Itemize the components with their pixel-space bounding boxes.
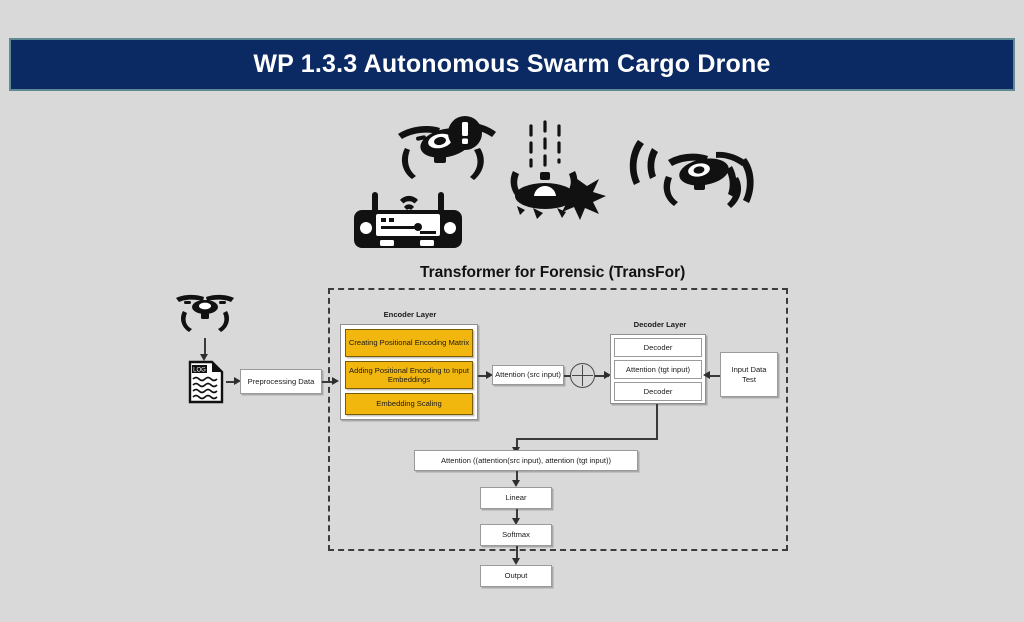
softmax-box[interactable]: Softmax	[480, 524, 552, 546]
input-data-test-box[interactable]: Input Data Test	[720, 352, 778, 397]
attention-src-input-box[interactable]: Attention (src input)	[492, 365, 564, 385]
input-data-test-label-line1: Input Data	[731, 365, 766, 374]
encoder-layer-label: Encoder Layer	[345, 310, 475, 319]
connector-decoder-to-left	[516, 438, 658, 440]
preprocessing-data-label: Preprocessing Data	[248, 377, 315, 386]
combined-attention-label: Attention ((attention(src input), attent…	[441, 456, 611, 465]
encoder-block-embedding-scaling[interactable]: Embedding Scaling	[345, 393, 473, 415]
decoder-block-attention-tgt-input[interactable]: Attention (tgt input)	[614, 360, 702, 379]
arrowhead-input-test-to-decoder	[703, 371, 710, 379]
encoder-block-label: Adding Positional Encoding to Input Embe…	[348, 366, 470, 385]
decoder-block-label: Decoder	[644, 387, 673, 396]
encoder-block-positional-encoding-matrix[interactable]: Creating Positional Encoding Matrix	[345, 329, 473, 357]
input-data-test-label-line2: Test	[742, 375, 756, 384]
transformer-architecture-diagram: Transformer for Forensic (TransFor)	[0, 0, 1024, 622]
encoder-block-adding-positional-encoding[interactable]: Adding Positional Encoding to Input Embe…	[345, 361, 473, 389]
decoder-block-decoder-bottom[interactable]: Decoder	[614, 382, 702, 401]
decoder-block-label: Decoder	[644, 343, 673, 352]
diagram-title: Transformer for Forensic (TransFor)	[420, 264, 685, 282]
softmax-label: Softmax	[502, 530, 530, 539]
arrowhead-preprocessing-to-encoder	[332, 377, 339, 385]
decoder-block-label: Attention (tgt input)	[626, 365, 690, 374]
linear-label: Linear	[505, 493, 526, 502]
linear-box[interactable]: Linear	[480, 487, 552, 509]
output-box[interactable]: Output	[480, 565, 552, 587]
arrowhead-attention-to-linear	[512, 480, 520, 487]
decoder-block-decoder-top[interactable]: Decoder	[614, 338, 702, 357]
input-drone-icon	[174, 292, 236, 334]
attention-src-input-label: Attention (src input)	[495, 370, 561, 379]
log-file-label: LOG	[193, 368, 206, 374]
output-label: Output	[505, 571, 528, 580]
combined-attention-box[interactable]: Attention ((attention(src input), attent…	[414, 450, 638, 471]
log-file-icon: LOG	[188, 360, 224, 404]
preprocessing-data-box[interactable]: Preprocessing Data	[240, 369, 322, 394]
connector-decoder-down	[656, 404, 658, 440]
sum-node	[570, 363, 595, 388]
arrowhead-softmax-to-output	[512, 558, 520, 565]
encoder-block-label: Creating Positional Encoding Matrix	[349, 338, 469, 347]
decoder-layer-label: Decoder Layer	[612, 320, 708, 329]
encoder-block-label: Embedding Scaling	[376, 399, 441, 408]
